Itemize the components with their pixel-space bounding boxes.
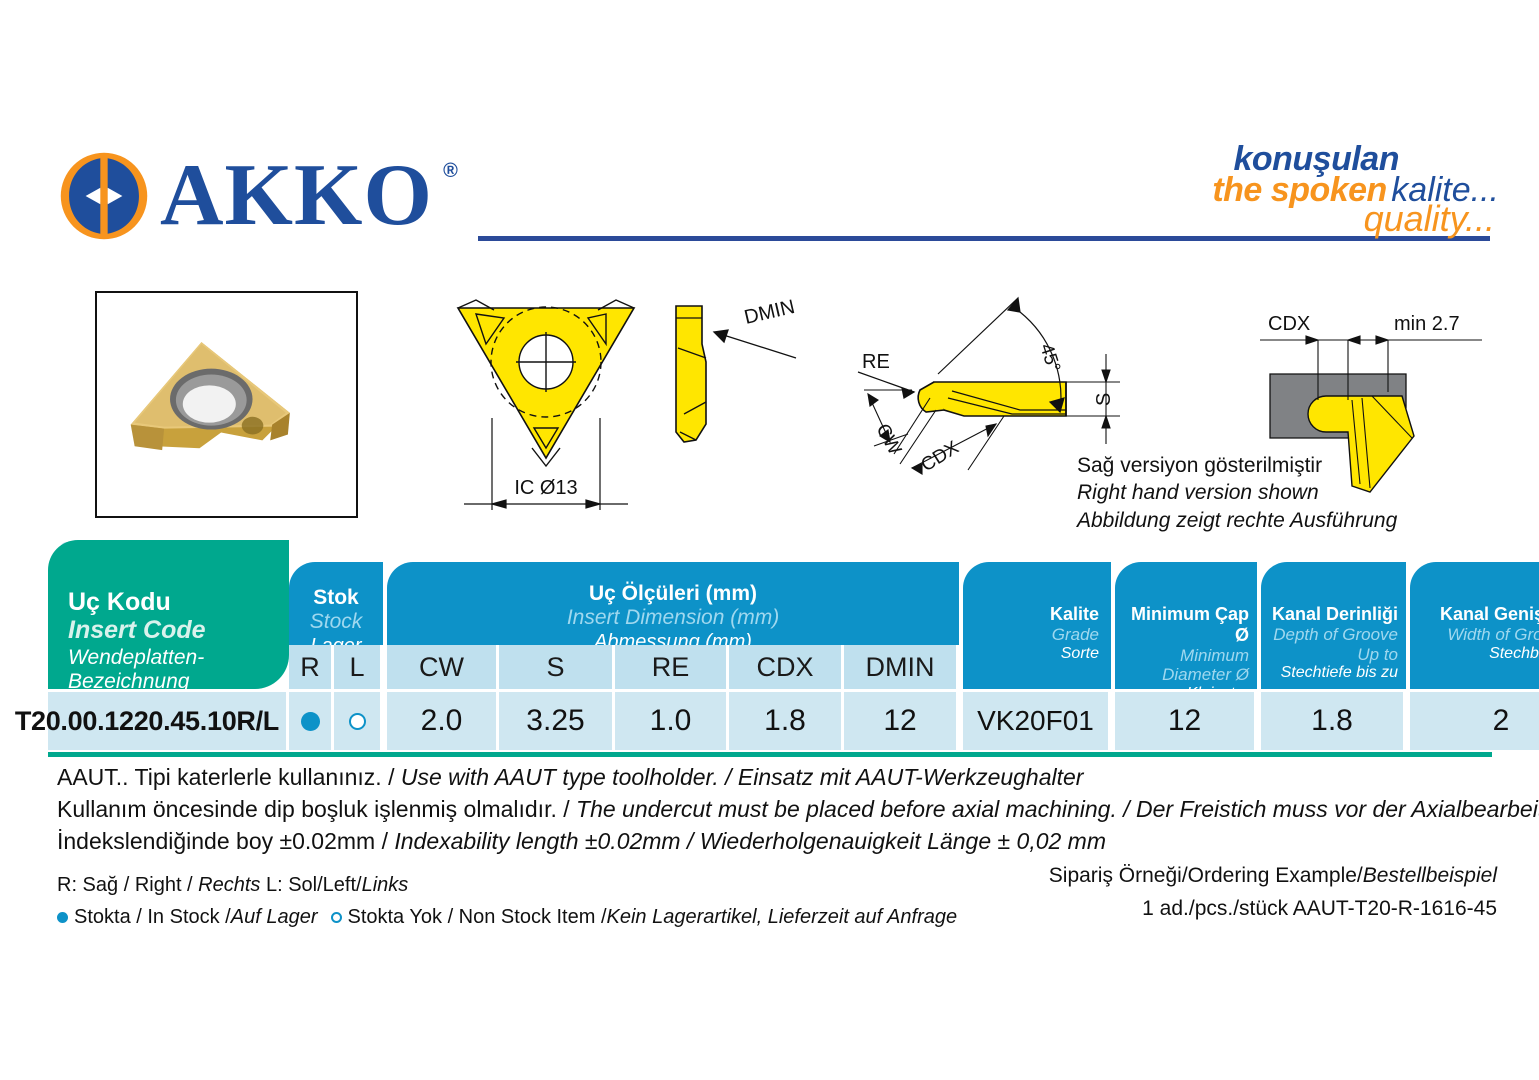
slogan-line-en: the spoken [1212, 171, 1386, 209]
brand-slogan: konuşulan the spoken kalite... quality..… [1079, 142, 1499, 238]
right-hand-version-note: Sağ versiyon gösterilmiştir Right hand v… [1077, 452, 1397, 534]
groove-width-label-de: Stechbreite [1410, 645, 1539, 664]
akko-logo: AKKO ® [58, 150, 433, 242]
note1-tr: AAUT.. Tipi katerlerle kullanınız. / [57, 764, 401, 790]
ordering-title: Sipariş Örneği/Ordering Example/Bestellb… [1049, 860, 1497, 893]
cell-min-diameter: 12 [1115, 692, 1257, 750]
cell-stock-r [289, 692, 334, 750]
hand-note-de: Abbildung zeigt rechte Ausführung [1077, 507, 1397, 534]
insert-code-label-tr: Uç Kodu [68, 588, 171, 617]
note2-tr: Kullanım öncesinde dip boşluk işlenmiş o… [57, 796, 576, 822]
legend-l-de: Links [362, 874, 409, 896]
hand-note-en: Right hand version shown [1077, 479, 1397, 506]
header-separator [959, 548, 963, 668]
legend-stock-no: Stokta Yok / Non Stock Item / [347, 906, 606, 929]
ordering-example-code: 1 ad./pcs./stück AAUT-T20-R-1616-45 [1049, 893, 1497, 926]
subheader-cw: CW [387, 645, 499, 689]
groove-width-label-tr: Kanal Genişliği [1410, 604, 1539, 625]
header-group-grade: Kalite Grade Sorte [963, 562, 1111, 689]
note-line-1: AAUT.. Tipi katerlerle kullanınız. / Use… [57, 762, 1477, 794]
ordering-title-de: Bestellbeispiel [1363, 864, 1497, 887]
insert-code-label-de: Wendeplatten-Bezeichnung [68, 646, 289, 694]
cell-groove-width: 2 [1410, 692, 1539, 750]
groove-cdx-label: CDX [1268, 313, 1310, 335]
page-header: AKKO ® konuşulan the spoken kalite... qu… [0, 0, 1539, 280]
min-diameter-label-tr: Minimum Çap Ø [1115, 604, 1249, 646]
note1-en: Use with AAUT type toolholder. [401, 764, 719, 790]
groove-depth-label-de: Stechtiefe bis zu [1261, 664, 1398, 683]
groove-depth-label-tr: Kanal Derinliği [1261, 604, 1398, 625]
header-group-groove-depth: Kanal Derinliği Depth of Groove Up to St… [1261, 562, 1406, 689]
dimensions-label-tr: Uç Ölçüleri (mm) [387, 582, 959, 606]
stock-label-en: Stock [289, 610, 383, 634]
in-stock-icon [301, 712, 320, 731]
subheader-dmin: DMIN [844, 645, 959, 689]
insert-front-view-drawing: IC Ø13 [446, 288, 646, 523]
grade-label-tr: Kalite [963, 604, 1099, 625]
angle-45-label: 45° [1035, 341, 1064, 375]
cell-groove-depth: 1.8 [1261, 692, 1406, 750]
akko-logo-mark [58, 150, 150, 242]
ic-diameter-label: IC Ø13 [514, 477, 577, 499]
min-diameter-label-en: Minimum Diameter Ø [1115, 646, 1249, 685]
note2-en: The undercut must be placed before axial… [576, 796, 1117, 822]
non-stock-legend-icon [331, 912, 342, 923]
groove-min-label: min 2.7 [1394, 313, 1460, 335]
cw-label: CW [872, 420, 905, 458]
subheader-r: R [289, 645, 334, 689]
note2-de: / Der Freistich muss vor der Axialbearbe… [1117, 796, 1539, 822]
groove-width-label-en: Width of Groove [1410, 625, 1539, 645]
non-stock-icon [349, 713, 366, 730]
s-label: S [1093, 393, 1115, 406]
insert-side-view-drawing: DMIN [662, 292, 802, 477]
cell-cw: 2.0 [387, 692, 499, 750]
cell-re: 1.0 [615, 692, 729, 750]
groove-depth-label-en: Depth of Groove Up to [1261, 625, 1398, 664]
note3-en: Indexability length ±0.02mm [394, 828, 680, 854]
dimensions-label-en: Insert Dimension (mm) [387, 606, 959, 630]
grade-label-en: Grade [963, 625, 1099, 645]
ordering-example: Sipariş Örneği/Ordering Example/Bestellb… [1049, 860, 1497, 925]
in-stock-legend-icon [57, 912, 68, 923]
akko-wordmark-text: AKKO [160, 147, 433, 244]
note-line-3: İndekslendiğinde boy ±0.02mm / Indexabil… [57, 826, 1477, 858]
cell-grade: VK20F01 [963, 692, 1111, 750]
registered-trademark-icon: ® [443, 162, 459, 180]
insert-product-photo [95, 291, 358, 518]
note3-tr: İndekslendiğinde boy ±0.02mm / [57, 828, 394, 854]
note1-de: / Einsatz mit AAUT-Werkzeughalter [719, 764, 1084, 790]
subheader-s: S [499, 645, 615, 689]
dmin-label: DMIN [742, 296, 797, 329]
legend-stock-no-de: Kein Lagerartikel, Lieferzeit auf Anfrag… [607, 906, 958, 929]
legend-stock-yes-de: Auf Lager [231, 906, 318, 929]
legend-r: R: Sağ / Right / [57, 874, 198, 896]
note3-de: / Wiederholgenauigkeit Länge ± 0,02 mm [681, 828, 1106, 854]
stock-label-tr: Stok [289, 586, 383, 610]
note-line-2: Kullanım öncesinde dip boşluk işlenmiş o… [57, 794, 1477, 826]
re-label: RE [862, 351, 890, 373]
subheader-cdx: CDX [729, 645, 844, 689]
legend-stock-yes: Stokta / In Stock / [74, 906, 231, 929]
cell-cdx: 1.8 [729, 692, 844, 750]
cell-s: 3.25 [499, 692, 615, 750]
insert-code-panel: Uç Kodu Insert Code Wendeplatten-Bezeich… [48, 540, 289, 689]
legend-r-de: Rechts [198, 874, 260, 896]
slogan-line-en2: quality... [1364, 198, 1495, 239]
hand-note-tr: Sağ versiyon gösterilmiştir [1077, 452, 1397, 479]
legend-l: L: Sol/Left/ [260, 874, 361, 896]
cell-insert-code: T20.00.1220.45.10R/L [48, 692, 289, 750]
cell-stock-l [334, 692, 383, 750]
subheader-l: L [334, 645, 383, 689]
insert-code-label-en: Insert Code [68, 616, 206, 645]
akko-wordmark: AKKO ® [160, 156, 433, 237]
specification-table: Stok Stock Lager Uç Ölçüleri (mm) Insert… [48, 540, 1492, 755]
header-group-groove-width: Kanal Genişliği Width of Groove Stechbre… [1410, 562, 1539, 689]
cdx-label: CDX [918, 437, 963, 476]
header-separator [1406, 548, 1410, 668]
header-separator [1111, 548, 1115, 668]
grade-label-de: Sorte [963, 645, 1099, 664]
header-group-min-diameter: Minimum Çap Ø Minimum Diameter Ø Kleinst… [1115, 562, 1257, 689]
header-separator [1257, 548, 1261, 668]
ordering-title-tr: Sipariş Örneği/Ordering Example/ [1049, 864, 1363, 887]
subheader-re: RE [615, 645, 729, 689]
cell-dmin: 12 [844, 692, 959, 750]
table-bottom-rule [48, 752, 1492, 757]
